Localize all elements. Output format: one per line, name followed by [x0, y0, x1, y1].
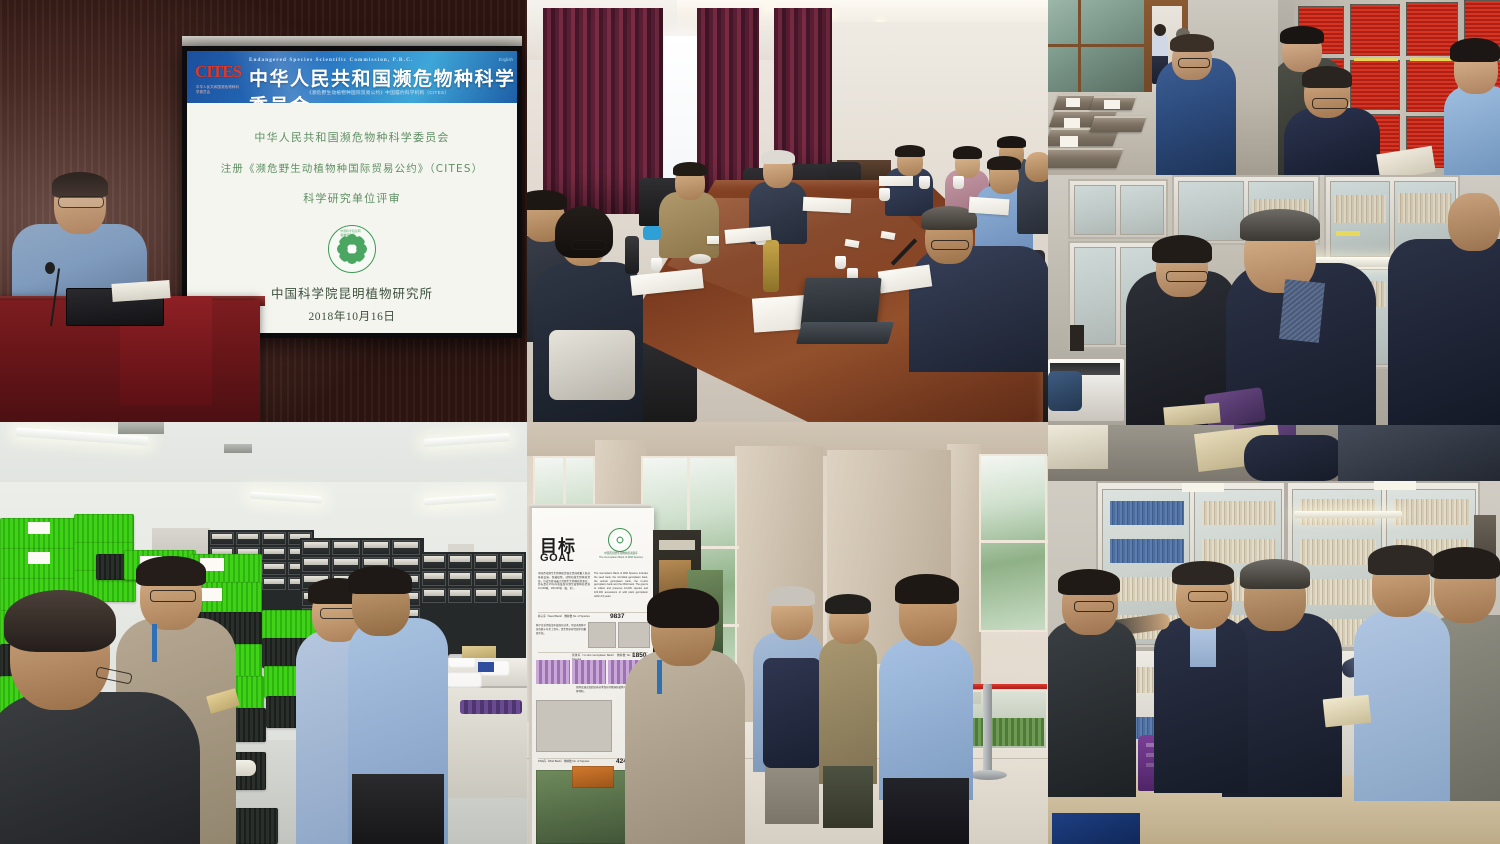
blue-tray — [478, 662, 494, 672]
reviewer-front-hair — [348, 566, 412, 594]
guide-lanyard — [657, 660, 662, 694]
ceiling-light — [767, 6, 774, 10]
microphone-icon — [45, 262, 55, 274]
under-shelf-light — [1294, 511, 1402, 518]
specimen-label — [1104, 100, 1120, 109]
display-board-text — [659, 540, 695, 550]
reviewer-back-hair — [1240, 559, 1310, 589]
poster-title-english: GOAL — [540, 552, 574, 564]
specimen-label — [1066, 98, 1080, 107]
slide-header-chinese-subtitle: 《濒危野生动植物种国际贸易公约》中国履约科学机构（CITES） — [307, 90, 449, 96]
specimen-bundle — [1048, 148, 1124, 168]
visitor-carried-jacket — [763, 658, 821, 768]
library-cabinet — [1068, 179, 1168, 239]
cabinet-label-tag — [1182, 483, 1224, 492]
shelved-books — [1300, 579, 1376, 605]
reviewer-center-hair — [1172, 561, 1234, 585]
poster-photo — [618, 622, 650, 648]
staff-lanyard — [152, 624, 157, 662]
slide-institute-name: 中国科学院昆明植物研究所 — [271, 283, 433, 302]
reviewer-foreground-hair — [1302, 66, 1352, 88]
cites-logo-subtext: 中华人民共和国濒危物种科学委员会 — [196, 84, 241, 94]
photo-collage: CITES 中华人民共和国濒危物种科学委员会 Endangered Specie… — [0, 0, 1500, 844]
poster-seed-value: 9837 — [610, 613, 624, 620]
shelf-label-tag — [1336, 231, 1360, 236]
reviewer-right-hair — [1430, 547, 1500, 579]
slide-header-language-mark: English — [499, 57, 513, 62]
reviewer-center-shirt-collar — [1279, 279, 1325, 343]
purple-caps — [460, 700, 522, 714]
speaker-hair — [52, 172, 108, 198]
held-old-volume — [1323, 695, 1372, 728]
cabinet-label-tag — [1374, 481, 1416, 490]
paper-cup — [919, 176, 930, 189]
shelved-books — [1300, 539, 1376, 565]
institute-seal-icon: 中国科学院昆明植物研究所 — [328, 225, 376, 273]
reviewer-blue-shirt-hair — [1450, 38, 1500, 62]
slide-header-chinese-title: 中华人民共和国濒危物种科学委员会 — [249, 64, 517, 103]
poster-body-chinese: 中国西南野生生物种质资源库是国家重大科技基础设施，保藏植物、动物和微生物种质资源… — [538, 572, 590, 591]
visitor-blue-shirt-trousers — [883, 778, 969, 844]
third-person-head — [1448, 193, 1500, 251]
handbag — [549, 330, 635, 400]
attendee-glasses-icon — [931, 240, 969, 250]
panel-library-bottom — [1048, 425, 1500, 844]
staff-guide-glasses-icon — [150, 590, 196, 602]
panel-seedbank — [0, 422, 527, 844]
cabinet-glass-door[interactable] — [1178, 181, 1244, 241]
reviewer-front-trousers — [352, 774, 444, 844]
poster-seed-label: 种子库（Seed Bank） 物种数 No. of Species — [538, 615, 600, 619]
paper-cup — [953, 176, 964, 189]
barrier-post-base — [969, 770, 1007, 780]
reviewer-left-glasses-icon — [1074, 601, 1114, 612]
ceiling-vent — [224, 444, 252, 453]
shelved-books — [1202, 501, 1276, 525]
lobby-window — [979, 454, 1047, 632]
poster-dna-label: DNA库（DNA Bank） 物种数 No. of Species — [538, 760, 600, 764]
attendee-hair — [673, 162, 707, 176]
reviewer-center-hair — [1240, 209, 1320, 241]
slide-line-3: 科学研究单位评审 — [303, 190, 401, 206]
shelved-books — [1334, 195, 1386, 223]
reviewer-foreground-torso — [1284, 108, 1380, 175]
paper-cup — [879, 188, 890, 201]
poster-org-name: 中国西南野生生物种质资源库 The Germplasm Bank of Wild… — [592, 552, 650, 560]
panel-conference — [527, 0, 1048, 422]
chair-back — [1048, 371, 1082, 411]
old-bound-volume — [1163, 403, 1221, 425]
poster-caption: 种子库采用低温干燥保存技术，可使多数种子保存数十年至上百年，是生物多样性保护的重… — [536, 624, 586, 635]
reviewer-center-glasses-icon — [1188, 591, 1228, 602]
papers — [803, 197, 852, 213]
thermos — [763, 240, 779, 292]
attendee-laptop-keyboard — [796, 322, 894, 344]
reviewer-glasses-icon — [1178, 58, 1210, 68]
panel-exhibit: 目标 GOAL 中国西南野生生物种质资源库 The Germplasm Bank… — [527, 422, 1048, 844]
slide-date: 2018年10月16日 — [308, 308, 395, 324]
ashtray — [689, 254, 711, 264]
poster-photo — [536, 700, 612, 752]
person-upper-strip — [1338, 425, 1500, 481]
blue-item — [643, 226, 661, 240]
visitor-khaki-hair — [825, 594, 871, 614]
attendee-glasses-icon — [571, 240, 607, 250]
reviewer-left-hair — [1058, 569, 1120, 595]
visitor-blue-shirt-hair — [895, 574, 959, 604]
reviewer-left-glasses-icon — [1166, 271, 1208, 282]
specimen-label — [1064, 118, 1080, 128]
background-person-head — [1154, 24, 1166, 36]
attendee-laptop — [800, 278, 881, 328]
staff-guide-hair — [136, 556, 206, 586]
document-sheet — [1048, 425, 1108, 469]
glass-partition — [1048, 0, 1149, 96]
shelf-item — [1070, 325, 1084, 351]
visitor-blue-shirt-torso — [879, 638, 973, 800]
shelved-books — [1398, 193, 1452, 223]
reviewer-left-torso — [1048, 621, 1136, 797]
specimen-bundle — [1089, 116, 1146, 132]
shelf-cell — [1350, 4, 1400, 56]
ceiling-vent — [118, 422, 164, 434]
visitor-gray-hair — [767, 586, 815, 606]
attendee-hair — [953, 146, 982, 159]
panel-library-top — [1048, 175, 1500, 425]
attendee-hair — [987, 156, 1021, 170]
red-folder-stack — [1351, 61, 1399, 110]
shelved-books — [1110, 539, 1184, 563]
attendee-hair — [997, 136, 1026, 148]
sample-bag — [446, 672, 482, 688]
reviewer-blue-shirt-torso — [1444, 86, 1500, 175]
cites-logo-icon: CITES 中华人民共和国濒危物种科学委员会 — [195, 60, 241, 94]
cites-logo-mark: CITES — [195, 62, 239, 84]
crate-label — [28, 522, 50, 534]
reaching-arm — [1244, 435, 1344, 481]
papers — [879, 176, 913, 186]
poster-org-chinese: 中国西南野生生物种质资源库 — [604, 552, 638, 555]
speaker-glasses-icon — [58, 196, 104, 208]
reviewer-hair — [1170, 34, 1214, 52]
reviewer-left-hair — [1152, 235, 1212, 263]
shelved-books — [1110, 501, 1184, 525]
projector-screen: CITES 中华人民共和国濒危物种科学委员会 Endangered Specie… — [182, 46, 522, 338]
paper-cup — [651, 258, 662, 271]
poster-photo — [572, 660, 606, 684]
specimen-label — [1060, 136, 1078, 147]
attendee-torso — [909, 246, 1048, 372]
slide-header-band: CITES 中华人民共和国濒危物种科学委员会 Endangered Specie… — [187, 51, 517, 103]
seed-crate — [74, 514, 134, 544]
poster-org-seal-icon — [608, 528, 632, 552]
reviewer-glasses-icon — [1312, 98, 1348, 109]
reviewer-blue-shirt-hair — [1368, 545, 1434, 575]
shelf-label-tag — [1410, 58, 1456, 61]
institute-seal-text: 中国科学院昆明植物研究所 — [341, 229, 364, 237]
slide-header-english-title: Endangered Species Scientific Commission… — [249, 57, 413, 63]
shelf-label-tag — [1354, 58, 1398, 61]
poster-org-english: The Germplasm Bank of Wild Species — [599, 556, 643, 559]
shelved-books — [1394, 499, 1470, 525]
visitor-khaki-torso — [819, 638, 877, 784]
glass-mullions — [1048, 0, 1146, 96]
cabinet-glass-door[interactable] — [1120, 185, 1164, 235]
staff-hair — [1280, 26, 1324, 44]
attendee-hair — [761, 150, 795, 164]
poster-photo — [572, 766, 614, 788]
foreground-person-torso — [0, 692, 200, 844]
attendee-hair — [555, 206, 613, 258]
poster-body-english: The Germplasm Bank of Wild Species inclu… — [594, 572, 648, 598]
paper-cup — [835, 256, 846, 269]
shelf-cell — [1350, 60, 1400, 110]
slide-line-1: 中华人民共和国濒危物种科学委员会 — [254, 129, 449, 145]
poster-photo — [536, 660, 570, 684]
nameplate — [707, 236, 719, 244]
cabinet-glass-door[interactable] — [1074, 185, 1116, 235]
attendee-hair — [527, 190, 567, 210]
crate-label — [28, 552, 50, 564]
panel-specimen — [1048, 0, 1278, 175]
attendee-hair — [895, 145, 925, 157]
panel-presentation: CITES 中华人民共和国濒危物种科学委员会 Endangered Specie… — [0, 0, 527, 422]
slide-line-2: 注册《濒危野生动植物种国际贸易公约》（CITES） — [221, 160, 483, 175]
guide-torso — [625, 650, 745, 844]
rack-label — [448, 544, 474, 552]
panel-archive — [1278, 0, 1500, 175]
barrier-post — [983, 684, 992, 774]
poster-photo — [588, 622, 616, 648]
divider — [538, 612, 648, 613]
blue-box-file — [1052, 813, 1140, 844]
visitor-khaki-trousers — [823, 766, 873, 828]
foreground-person-hair — [4, 590, 116, 652]
seed-envelope — [462, 646, 496, 658]
red-folder-stack — [1351, 5, 1399, 56]
attendee-torso — [659, 192, 719, 258]
papers — [968, 197, 1009, 216]
guide-hair — [647, 588, 719, 628]
third-person-torso — [1388, 239, 1500, 425]
attendee-head — [1025, 152, 1048, 182]
presentation-slide: CITES 中华人民共和国濒危物种科学委员会 Endangered Specie… — [187, 51, 517, 333]
thermos — [625, 236, 639, 274]
